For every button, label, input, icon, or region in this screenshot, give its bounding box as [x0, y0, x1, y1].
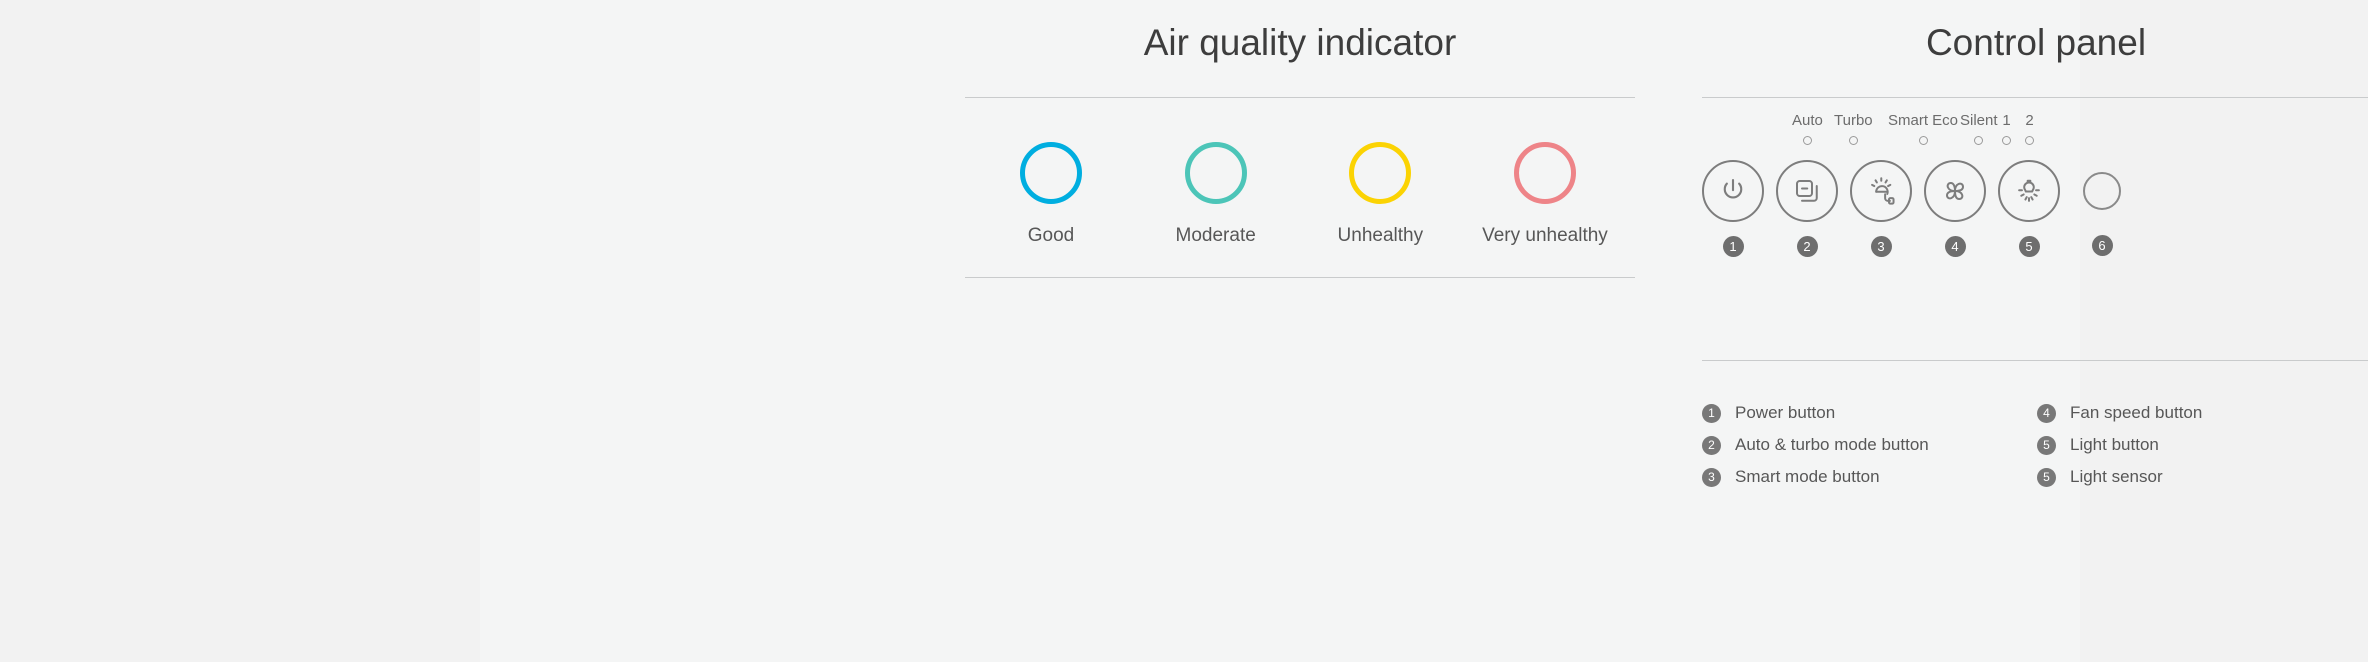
indicator-speed-2: 2: [2025, 112, 2034, 145]
light-button-wrap: 5: [1998, 160, 2060, 257]
control-panel-button-row: 1 2: [1702, 160, 2368, 290]
legend-item: 5 Light button: [2037, 429, 2368, 461]
indicator-silent: Silent: [1960, 112, 1998, 145]
legend-column-left: 1 Power button 2 Auto & turbo mode butto…: [1702, 397, 2037, 493]
legend-label: Light button: [2070, 435, 2159, 455]
legend-badge: 3: [1702, 468, 1721, 487]
legend-badge: 1: [1702, 404, 1721, 423]
sensor-icon[interactable]: [2083, 172, 2121, 210]
control-panel-divider-bottom: [1702, 360, 2368, 361]
air-quality-label: Moderate: [1176, 225, 1256, 247]
legend-badge: 5: [2037, 468, 2056, 487]
bulb-icon: [2013, 175, 2045, 207]
air-quality-level-unhealthy: Unhealthy: [1300, 142, 1460, 247]
content-area: Air quality indicator Good Moderate Unhe…: [480, 0, 2080, 662]
indicator-smart-eco: Smart Eco: [1888, 112, 1958, 145]
legend-item: 5 Light sensor: [2037, 461, 2368, 493]
legend-item: 3 Smart mode button: [1702, 461, 2037, 493]
legend-label: Light sensor: [2070, 467, 2163, 487]
control-panel-title: Control panel: [1702, 22, 2368, 64]
indicator-label: Smart Eco: [1888, 112, 1958, 129]
legend-badge: 2: [1702, 436, 1721, 455]
indicator-auto: Auto: [1792, 112, 1823, 145]
legend-column-right: 4 Fan speed button 5 Light button 5 Ligh…: [2037, 397, 2368, 493]
air-quality-level-very-unhealthy: Very unhealthy: [1465, 142, 1625, 247]
page-root: Air quality indicator Good Moderate Unhe…: [0, 0, 2368, 662]
indicator-label: 1: [2002, 112, 2010, 129]
legend-item: 1 Power button: [1702, 397, 2037, 429]
power-button-wrap: 1: [1702, 160, 1764, 257]
legend-item: 2 Auto & turbo mode button: [1702, 429, 2037, 461]
air-quality-divider-top: [965, 97, 1635, 98]
light-button[interactable]: [1998, 160, 2060, 222]
legend-label: Fan speed button: [2070, 403, 2202, 423]
power-icon: [1718, 176, 1748, 206]
indicator-label: 2: [2025, 112, 2033, 129]
indicator-speed-1: 1: [2002, 112, 2011, 145]
indicator-label: Turbo: [1834, 112, 1873, 129]
legend-label: Power button: [1735, 403, 1835, 423]
smart-mode-button-wrap: 3: [1850, 160, 1912, 257]
led-dot-icon: [2025, 136, 2034, 145]
led-dot-icon: [1919, 136, 1928, 145]
legend-label: Smart mode button: [1735, 467, 1880, 487]
control-panel-section: Control panel Auto Turbo Smart Eco Sile: [1702, 0, 2368, 493]
control-panel-legend: 1 Power button 2 Auto & turbo mode butto…: [1702, 397, 2368, 493]
ring-icon: [1185, 142, 1247, 204]
air-quality-divider-bottom: [965, 277, 1635, 278]
plug-bulb-icon: [1865, 175, 1897, 207]
layers-icon: [1792, 176, 1822, 206]
fan-icon: [1940, 176, 1970, 206]
air-quality-label: Very unhealthy: [1482, 225, 1608, 247]
button-badge: 3: [1871, 236, 1892, 257]
button-badge: 2: [1797, 236, 1818, 257]
fan-speed-button-wrap: 4: [1924, 160, 1986, 257]
button-badge: 4: [1945, 236, 1966, 257]
air-quality-label: Unhealthy: [1338, 225, 1424, 247]
air-quality-section: Air quality indicator Good Moderate Unhe…: [965, 0, 1635, 278]
indicator-turbo: Turbo: [1834, 112, 1873, 145]
indicator-label: Silent: [1960, 112, 1998, 129]
legend-badge: 4: [2037, 404, 2056, 423]
led-dot-icon: [1803, 136, 1812, 145]
auto-turbo-mode-button[interactable]: [1776, 160, 1838, 222]
legend-label: Auto & turbo mode button: [1735, 435, 1929, 455]
smart-mode-button[interactable]: [1850, 160, 1912, 222]
fan-speed-button[interactable]: [1924, 160, 1986, 222]
air-quality-level-list: Good Moderate Unhealthy Very unhealthy: [965, 142, 1635, 247]
air-quality-level-good: Good: [971, 142, 1131, 247]
auto-turbo-mode-button-wrap: 2: [1776, 160, 1838, 257]
button-badge: 5: [2019, 236, 2040, 257]
air-quality-label: Good: [1028, 225, 1074, 247]
ring-icon: [1349, 142, 1411, 204]
button-badge: 1: [1723, 236, 1744, 257]
control-panel-body: Auto Turbo Smart Eco Silent 1: [1702, 98, 2368, 360]
led-dot-icon: [2002, 136, 2011, 145]
power-button[interactable]: [1702, 160, 1764, 222]
legend-item: 4 Fan speed button: [2037, 397, 2368, 429]
air-quality-level-moderate: Moderate: [1136, 142, 1296, 247]
ring-icon: [1514, 142, 1576, 204]
light-sensor-wrap: 6: [2083, 160, 2121, 256]
air-quality-title: Air quality indicator: [965, 22, 1635, 64]
legend-badge: 5: [2037, 436, 2056, 455]
button-badge: 6: [2092, 235, 2113, 256]
ring-icon: [1020, 142, 1082, 204]
indicator-label: Auto: [1792, 112, 1823, 129]
led-dot-icon: [1849, 136, 1858, 145]
led-dot-icon: [1974, 136, 1983, 145]
